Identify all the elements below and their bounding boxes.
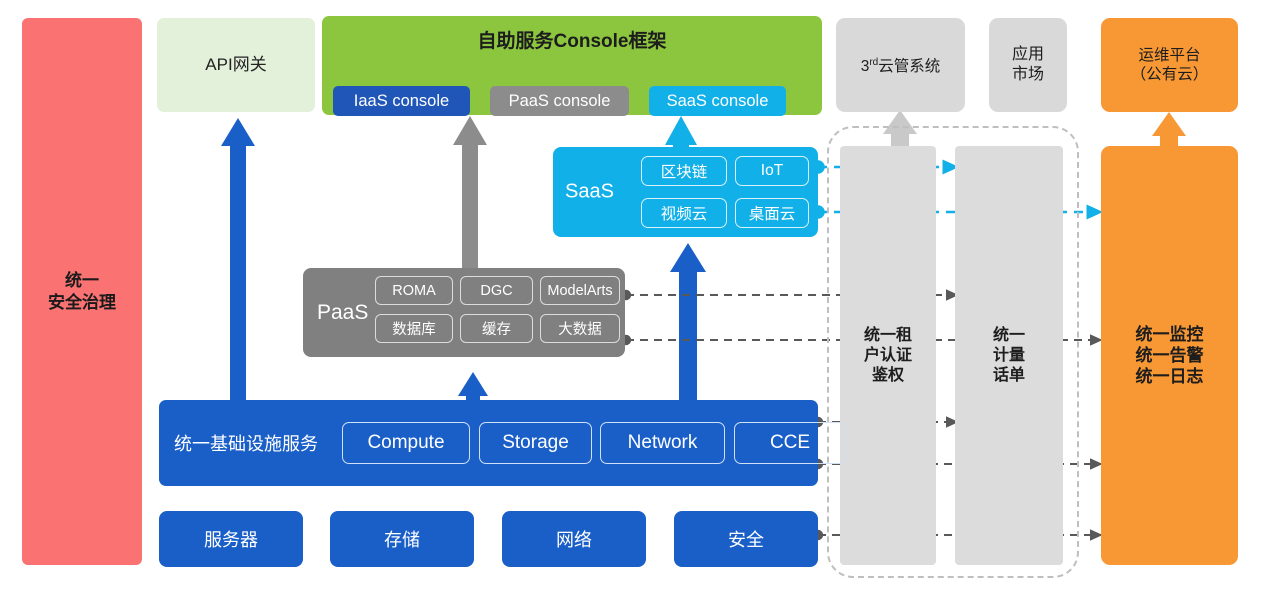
security-governance-label: 统一 安全治理: [48, 270, 116, 313]
arrow-paas-to-console: [453, 116, 487, 268]
third-party-cloud-label: 3rd云管系统: [861, 54, 941, 76]
paas-layer-label: PaaS: [317, 301, 368, 325]
console-framework-title: 自助服务Console框架: [322, 26, 822, 53]
saas-chip-video-cloud[interactable]: 视频云: [641, 198, 727, 228]
security-governance-panel[interactable]: 统一 安全治理: [22, 18, 142, 565]
app-market-box[interactable]: 应用 市场: [989, 18, 1067, 112]
third-party-suffix: 云管系统: [878, 58, 940, 75]
unified-infrastructure-bar[interactable]: 统一基础设施服务 Compute Storage Network CCE: [159, 400, 818, 486]
paas-chip-database[interactable]: 数据库: [375, 314, 453, 343]
unified-tenant-auth-label: 统一租 户认证 鉴权: [864, 326, 912, 386]
saas-console-chip[interactable]: SaaS console: [649, 86, 786, 116]
api-gateway-box[interactable]: API网关: [157, 18, 315, 112]
arrow-infra-to-paas: [458, 372, 488, 400]
ops-platform-public-cloud-label: 运维平台 （公有云）: [1131, 46, 1209, 85]
arrow-saas-to-console: [665, 116, 697, 147]
paas-chip-dgc[interactable]: DGC: [460, 276, 533, 305]
unified-metering-billing-label: 统一 计量 话单: [993, 326, 1025, 386]
architecture-diagram: 统一 安全治理 API网关 自助服务Console框架 IaaS console…: [0, 0, 1265, 605]
saas-layer[interactable]: SaaS 区块链 IoT 视频云 桌面云: [553, 147, 818, 237]
api-gateway-label: API网关: [205, 54, 266, 75]
paas-layer[interactable]: PaaS ROMA DGC ModelArts 数据库 缓存 大数据: [303, 268, 625, 357]
ops-monitoring-label: 统一监控 统一告警 统一日志: [1136, 324, 1204, 388]
infra-chip-network[interactable]: Network: [600, 422, 725, 464]
saas-chip-blockchain[interactable]: 区块链: [641, 156, 727, 186]
ops-monitoring-panel[interactable]: 统一监控 统一告警 统一日志: [1101, 146, 1238, 565]
resource-tile-server[interactable]: 服务器: [159, 511, 303, 567]
paas-console-chip[interactable]: PaaS console: [490, 86, 629, 116]
resource-tile-storage[interactable]: 存储: [330, 511, 474, 567]
paas-chip-bigdata[interactable]: 大数据: [540, 314, 620, 343]
saas-chip-desktop-cloud[interactable]: 桌面云: [735, 198, 809, 228]
arrow-infra-to-api-gateway: [221, 118, 255, 400]
saas-chip-iot[interactable]: IoT: [735, 156, 809, 186]
paas-chip-cache[interactable]: 缓存: [460, 314, 533, 343]
console-framework-panel[interactable]: 自助服务Console框架 IaaS console PaaS console …: [322, 16, 822, 115]
ops-platform-public-cloud-box[interactable]: 运维平台 （公有云）: [1101, 18, 1238, 112]
infra-chip-storage[interactable]: Storage: [479, 422, 592, 464]
arrow-infra-to-saas: [670, 243, 706, 400]
paas-chip-roma[interactable]: ROMA: [375, 276, 453, 305]
paas-chip-modelarts[interactable]: ModelArts: [540, 276, 620, 305]
infra-chip-cce[interactable]: CCE: [734, 422, 846, 464]
iaas-console-chip[interactable]: IaaS console: [333, 86, 470, 116]
infra-chip-compute[interactable]: Compute: [342, 422, 470, 464]
saas-layer-label: SaaS: [565, 181, 614, 204]
resource-tile-security[interactable]: 安全: [674, 511, 818, 567]
unified-metering-billing-column[interactable]: 统一 计量 话单: [955, 146, 1063, 565]
third-party-cloud-mgmt-box[interactable]: 3rd云管系统: [836, 18, 965, 112]
arrow-ops-panel-to-ops-top: [1152, 112, 1186, 150]
resource-tile-network[interactable]: 网络: [502, 511, 646, 567]
unified-infrastructure-label: 统一基础设施服务: [174, 430, 318, 456]
app-market-label: 应用 市场: [1012, 45, 1044, 85]
unified-tenant-auth-column[interactable]: 统一租 户认证 鉴权: [840, 146, 936, 565]
third-party-superscript: rd: [869, 57, 878, 68]
